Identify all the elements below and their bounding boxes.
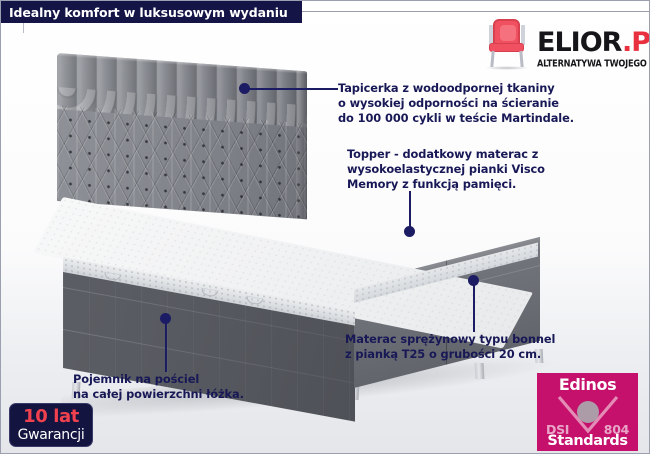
product-infographic: Idealny komfort w luksusowym wydaniu ELI… — [0, 0, 650, 454]
brand-logo-text: ELIOR.PL ALTERNATYWA TWOJEGO WNĘTRZA — [537, 30, 650, 69]
red-armchair-icon — [481, 17, 533, 69]
chair-shadow — [485, 66, 529, 70]
page-title: Idealny komfort w luksusowym wydaniu — [9, 5, 288, 20]
brand-tagline: ALTERNATYWA TWOJEGO WNĘTRZA — [537, 57, 650, 69]
callout-leader-upholstery — [249, 88, 338, 90]
callout-dot-mattress — [468, 275, 479, 286]
brand-name-main: ELIOR — [537, 27, 622, 58]
brand-logo[interactable]: ELIOR.PL ALTERNATYWA TWOJEGO WNĘTRZA — [481, 13, 649, 69]
chair-leg-left — [490, 51, 494, 67]
headboard-right-edge — [296, 71, 307, 220]
warranty-label: Gwarancji — [18, 428, 85, 442]
warranty-badge: 10 lat Gwarancji — [9, 403, 93, 447]
headboard-tuft-buttons — [57, 105, 307, 219]
header-rule — [302, 11, 650, 12]
callout-leader-storage — [165, 322, 167, 372]
edinos-standards-label: Standards — [537, 433, 638, 449]
callout-dot-upholstery — [239, 83, 250, 94]
brand-name: ELIOR.PL — [537, 30, 650, 56]
callout-dot-storage — [160, 313, 171, 324]
bed-leg — [475, 363, 485, 379]
brand-name-tld: .PL — [622, 27, 650, 58]
annotation-storage: Pojemnik na pościel na całej powierzchni… — [73, 372, 313, 402]
chair-leg-right — [519, 51, 523, 67]
bed-headboard — [57, 53, 307, 219]
annotation-topper: Topper - dodatkowy materac z wysokoelast… — [347, 147, 615, 192]
edinos-standards-badge: Edinos DSI 804 Standards — [537, 373, 638, 451]
header-banner: Idealny komfort w luksusowym wydaniu — [1, 1, 302, 23]
chair-arm-right — [521, 25, 525, 45]
chair-backrest — [493, 19, 520, 45]
annotation-upholstery: Tapicerka z wodoodpornej tkaniny o wysok… — [338, 81, 614, 126]
frame-left-tick — [23, 23, 24, 33]
edinos-brand-label: Edinos — [537, 375, 638, 394]
warranty-years: 10 lat — [23, 408, 79, 426]
callout-leader-topper — [409, 191, 411, 228]
callout-dot-topper — [404, 226, 415, 237]
annotation-mattress: Materac sprężynowy typu bonnel z pianką … — [345, 332, 625, 362]
callout-leader-mattress — [473, 284, 475, 332]
